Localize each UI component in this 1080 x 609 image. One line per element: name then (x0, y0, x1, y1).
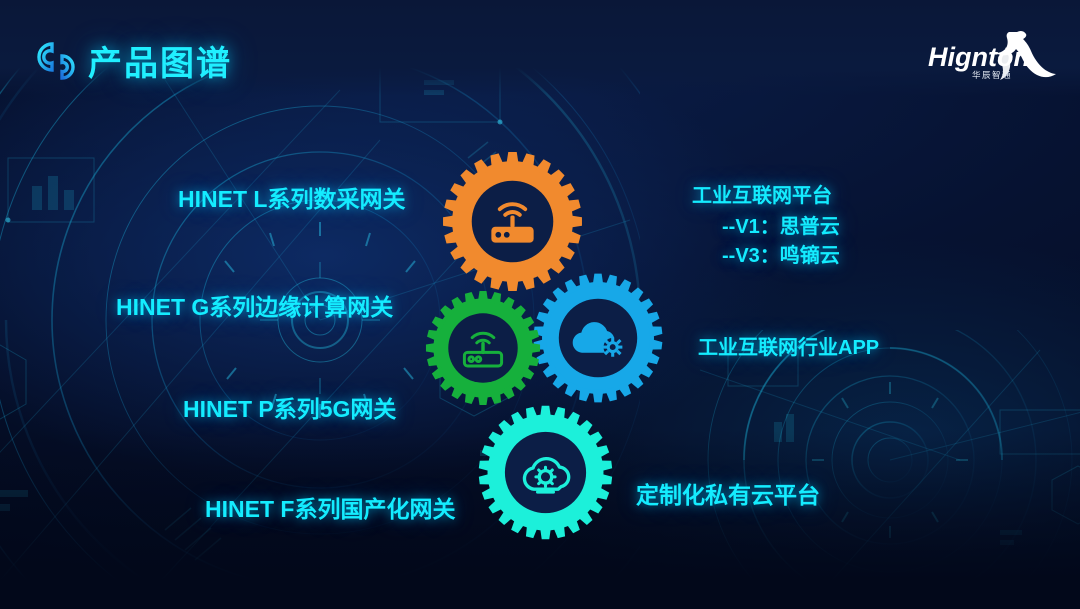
hud-right-rings (700, 330, 1080, 609)
brand-logo: Hignton 华辰智通 (924, 24, 1056, 86)
brand-wordmark: Hignton (928, 42, 1030, 72)
page-title: 产品图谱 (88, 36, 232, 85)
gear-router-green[interactable] (421, 286, 545, 410)
label-industrial-internet-app: 工业互联网行业APP (698, 331, 879, 360)
label-hinet-g-series: HINET G系列边缘计算网关 (116, 288, 393, 322)
brand-sub-text: 华辰智通 (972, 70, 1012, 80)
label-hinet-l-series: HINET L系列数采网关 (178, 180, 405, 214)
slide-header: 产品图谱 Hignton 华辰智通 (0, 0, 1080, 100)
label-industrial-internet-platform: 工业互联网平台 (692, 179, 832, 208)
label-platform-v1: --V1：思普云 (722, 210, 840, 239)
gear-cloud-cyan[interactable] (473, 400, 618, 545)
label-hinet-f-series: HINET F系列国产化网关 (205, 490, 455, 524)
slide-canvas: 产品图谱 Hignton 华辰智通 HINET L系列数采网关 HINET G系… (0, 0, 1080, 609)
gear-cloud-blue[interactable] (528, 268, 668, 408)
label-platform-v3: --V3：鸣镝云 (722, 239, 840, 268)
label-private-cloud-platform: 定制化私有云平台 (636, 476, 820, 510)
interlocking-circles-icon (30, 36, 84, 86)
label-hinet-p-series: HINET P系列5G网关 (183, 390, 396, 424)
